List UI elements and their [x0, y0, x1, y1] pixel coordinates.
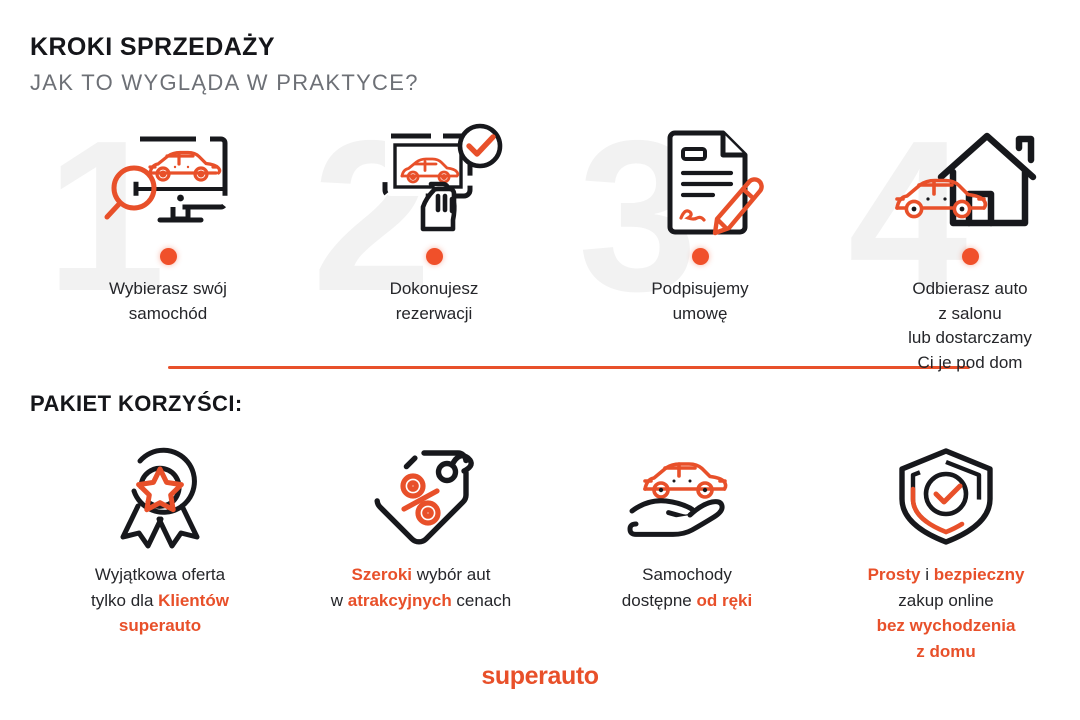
award-star-icon	[26, 443, 294, 548]
benefit-caption-3: Samochody dostępne od ręki	[553, 562, 821, 613]
benefit-text-highlight: bez wychodzenia	[877, 616, 1016, 635]
benefit-text-plain: Samochody	[642, 565, 732, 584]
step-item-4: 4	[836, 112, 1080, 382]
step-caption-line: lub dostarczamy	[908, 328, 1032, 347]
step-caption-line: Podpisujemy	[651, 279, 748, 298]
step-caption-line: Wybierasz swój	[109, 279, 227, 298]
benefit-text-plain: w	[331, 591, 348, 610]
step-caption-2: Dokonujesz rezerwacji	[300, 277, 568, 326]
benefit-item-1: Wyjątkowa oferta tylko dla Klientów supe…	[26, 443, 294, 653]
benefit-item-4: Prosty i bezpieczny zakup online bez wyc…	[812, 443, 1080, 653]
step-caption-line: samochód	[129, 304, 207, 323]
contract-pen-icon	[566, 120, 834, 245]
step-caption-4: Odbierasz auto z salonu lub dostarczamy …	[836, 277, 1080, 376]
benefit-caption-4: Prosty i bezpieczny zakup online bez wyc…	[812, 562, 1080, 664]
infographic-page: KROKI SPRZEDAŻY JAK TO WYGLĄDA W PRAKTYC…	[0, 0, 1080, 720]
benefit-text-highlight: Prosty	[868, 565, 921, 584]
step-item-2: 2	[300, 112, 568, 382]
hand-car-icon	[553, 443, 821, 548]
benefit-text-highlight: superauto	[119, 616, 201, 635]
superauto-logo: superauto	[0, 662, 1080, 691]
shield-check-icon	[812, 443, 1080, 548]
step-caption-line: Dokonujesz	[390, 279, 479, 298]
benefit-caption-1: Wyjątkowa oferta tylko dla Klientów supe…	[26, 562, 294, 639]
benefit-text-highlight: Szeroki	[352, 565, 412, 584]
benefit-text-highlight: Klientów	[158, 591, 229, 610]
price-tag-percent-icon	[287, 443, 555, 548]
benefits-section-title: PAKIET KORZYŚCI:	[30, 392, 243, 416]
benefit-text-plain: dostępne	[622, 591, 697, 610]
steps-timeline: 1	[0, 112, 1080, 382]
page-subtitle: JAK TO WYGLĄDA W PRAKTYCE?	[30, 71, 419, 95]
benefit-text-plain: i	[920, 565, 933, 584]
step-caption-line: umowę	[673, 304, 728, 323]
benefit-item-2: Szeroki wybór aut w atrakcyjnych cenach	[287, 443, 555, 653]
page-title: KROKI SPRZEDAŻY	[30, 34, 419, 62]
monitor-car-search-icon	[34, 120, 302, 245]
benefit-text-highlight: z domu	[916, 642, 976, 661]
benefit-text-highlight: od ręki	[696, 591, 752, 610]
benefit-text-plain: cenach	[452, 591, 512, 610]
timeline-dot-4	[836, 248, 1080, 265]
step-caption-line: z salonu	[938, 304, 1001, 323]
page-header: KROKI SPRZEDAŻY JAK TO WYGLĄDA W PRAKTYC…	[30, 34, 419, 95]
step-caption-3: Podpisujemy umowę	[566, 277, 834, 326]
benefit-text-highlight: bezpieczny	[934, 565, 1025, 584]
step-caption-line: Ci je pod dom	[918, 353, 1023, 372]
step-caption-line: Odbierasz auto	[912, 279, 1027, 298]
step-item-3: 3	[566, 112, 834, 382]
benefit-caption-2: Szeroki wybór aut w atrakcyjnych cenach	[287, 562, 555, 613]
step-caption-line: rezerwacji	[396, 304, 473, 323]
house-car-icon	[836, 120, 1080, 245]
tablet-hand-check-icon	[300, 120, 568, 245]
benefits-list: Wyjątkowa oferta tylko dla Klientów supe…	[0, 443, 1080, 653]
step-caption-1: Wybierasz swój samochód	[34, 277, 302, 326]
benefit-text-plain: tylko dla	[91, 591, 158, 610]
step-item-1: 1	[34, 112, 302, 382]
benefit-text-highlight: atrakcyjnych	[348, 591, 452, 610]
benefit-item-3: Samochody dostępne od ręki	[553, 443, 821, 653]
benefit-text-plain: wybór aut	[412, 565, 490, 584]
timeline-dot-1	[34, 248, 302, 265]
benefit-text-plain: zakup online	[898, 591, 993, 610]
timeline-dot-3	[566, 248, 834, 265]
timeline-dot-2	[300, 248, 568, 265]
benefit-text-plain: Wyjątkowa oferta	[95, 565, 225, 584]
